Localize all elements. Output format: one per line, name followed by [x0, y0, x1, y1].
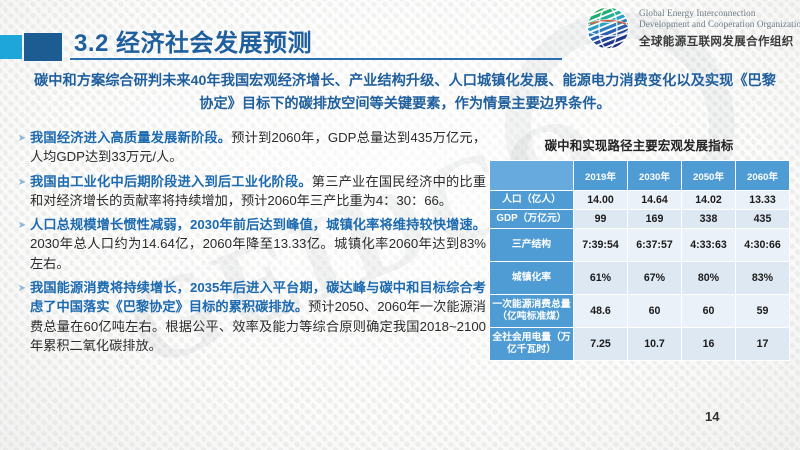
table-col-header: 2019年	[574, 161, 628, 191]
table-cell: 13.33	[736, 191, 790, 210]
table-col-header: 2050年	[682, 161, 736, 191]
table-cell: 17	[736, 328, 790, 361]
table-row-label: GDP（万亿元）	[490, 210, 574, 229]
logo-en-line2: Development and Cooperation Organization	[639, 19, 800, 31]
table-cell: 67%	[628, 262, 682, 295]
table-cell: 59	[736, 295, 790, 328]
arrow-bullet-icon: ➤	[14, 172, 30, 192]
lead-paragraph: 碳中和方案综合研判未来40年我国宏观经济增长、产业结构升级、人口城镇化发展、能源…	[34, 70, 776, 116]
table-cell: 10.7	[628, 328, 682, 361]
table-cell: 435	[736, 210, 790, 229]
list-item-body: 2030年总人口约为14.64亿，2060年降至13.33亿。城镇化率2060年…	[30, 236, 486, 270]
table-row: 城镇化率 61% 67% 80% 83%	[490, 262, 790, 295]
list-item-highlight: 人口总规模增长惯性减弱，2030年前后达到峰值，城镇化率将维持较快增速。	[30, 217, 486, 232]
table-cell: 14.00	[574, 191, 628, 210]
list-item-text: 我国能源消费将持续增长，2035年后进入平台期，碳达峰与碳中和目标综合考虑了中国…	[30, 278, 486, 355]
organization-logo: Global Energy Interconnection Developmen…	[584, 4, 800, 52]
list-item: ➤ 我国能源消费将持续增长，2035年后进入平台期，碳达峰与碳中和目标综合考虑了…	[14, 278, 486, 355]
list-item-text: 人口总规模增长惯性减弱，2030年前后达到峰值，城镇化率将维持较快增速。2030…	[30, 215, 486, 273]
macro-indicator-table-block: 碳中和实现路径主要宏观发展指标 2019年 2030年 2050年 2060年 …	[489, 136, 789, 361]
table-row-label: 全社会用电量（万亿千瓦时）	[490, 328, 574, 361]
table-cell: 60	[628, 295, 682, 328]
arrow-bullet-icon: ➤	[14, 278, 30, 298]
accent-bar-dark	[24, 33, 62, 61]
table-cell: 6:37:57	[628, 229, 682, 262]
arrow-bullet-icon: ➤	[14, 128, 30, 148]
table-row-label: 人口（亿人）	[490, 191, 574, 210]
table-cell: 338	[682, 210, 736, 229]
list-item: ➤ 人口总规模增长惯性减弱，2030年前后达到峰值，城镇化率将维持较快增速。20…	[14, 215, 486, 273]
table-row: 人口（亿人） 14.00 14.64 14.02 13.33	[490, 191, 790, 210]
table-col-header: 2060年	[736, 161, 790, 191]
list-item: ➤ 我国经济进入高质量发展新阶段。预计到2060年，GDP总量达到435万亿元，…	[14, 128, 486, 167]
page-number: 14	[705, 409, 719, 424]
list-item-highlight: 我国由工业化中后期阶段进入到后工业化阶段。	[30, 174, 312, 189]
table-row-label: 一次能源消费总量（亿吨标准煤）	[490, 295, 574, 328]
logo-text-block: Global Energy Interconnection Developmen…	[639, 8, 800, 49]
table-cell: 4:33:63	[682, 229, 736, 262]
table-header-row: 2019年 2030年 2050年 2060年	[490, 161, 790, 191]
logo-cn-name: 全球能源互联网发展合作组织	[639, 33, 800, 49]
table-cell: 7.25	[574, 328, 628, 361]
bullet-list: ➤ 我国经济进入高质量发展新阶段。预计到2060年，GDP总量达到435万亿元，…	[14, 128, 486, 360]
table-cell: 60	[682, 295, 736, 328]
table-row: 三产结构 7:39:54 6:37:57 4:33:63 4:30:66	[490, 229, 790, 262]
table-corner-cell	[490, 161, 574, 191]
list-item-highlight: 我国经济进入高质量发展新阶段。	[30, 130, 231, 145]
globe-logo-icon	[584, 4, 632, 52]
table-row-label: 城镇化率	[490, 262, 574, 295]
table-cell: 61%	[574, 262, 628, 295]
table-cell: 14.64	[628, 191, 682, 210]
table-cell: 16	[682, 328, 736, 361]
macro-indicator-table: 2019年 2030年 2050年 2060年 人口（亿人） 14.00 14.…	[489, 160, 790, 361]
accent-bar-light	[0, 35, 22, 59]
list-item-text: 我国经济进入高质量发展新阶段。预计到2060年，GDP总量达到435万亿元，人均…	[30, 128, 486, 167]
table-title: 碳中和实现路径主要宏观发展指标	[489, 136, 789, 154]
table-cell: 169	[628, 210, 682, 229]
slide-header: 3.2 经济社会发展预测	[0, 0, 800, 66]
table-cell: 14.02	[682, 191, 736, 210]
table-cell: 99	[574, 210, 628, 229]
table-row: 全社会用电量（万亿千瓦时） 7.25 10.7 16 17	[490, 328, 790, 361]
list-item: ➤ 我国由工业化中后期阶段进入到后工业化阶段。第三产业在国民经济中的比重和对经济…	[14, 172, 486, 211]
table-cell: 83%	[736, 262, 790, 295]
table-row: GDP（万亿元） 99 169 338 435	[490, 210, 790, 229]
page-title: 3.2 经济社会发展预测	[74, 23, 312, 58]
arrow-bullet-icon: ➤	[14, 215, 30, 235]
table-cell: 80%	[682, 262, 736, 295]
logo-en-line1: Global Energy Interconnection	[639, 8, 800, 20]
table-cell: 4:30:66	[736, 229, 790, 262]
list-item-text: 我国由工业化中后期阶段进入到后工业化阶段。第三产业在国民经济中的比重和对经济增长…	[30, 172, 486, 211]
table-cell: 48.6	[574, 295, 628, 328]
table-row: 一次能源消费总量（亿吨标准煤） 48.6 60 60 59	[490, 295, 790, 328]
table-cell: 7:39:54	[574, 229, 628, 262]
table-col-header: 2030年	[628, 161, 682, 191]
title-underline-rule	[70, 58, 562, 60]
table-row-label: 三产结构	[490, 229, 574, 262]
